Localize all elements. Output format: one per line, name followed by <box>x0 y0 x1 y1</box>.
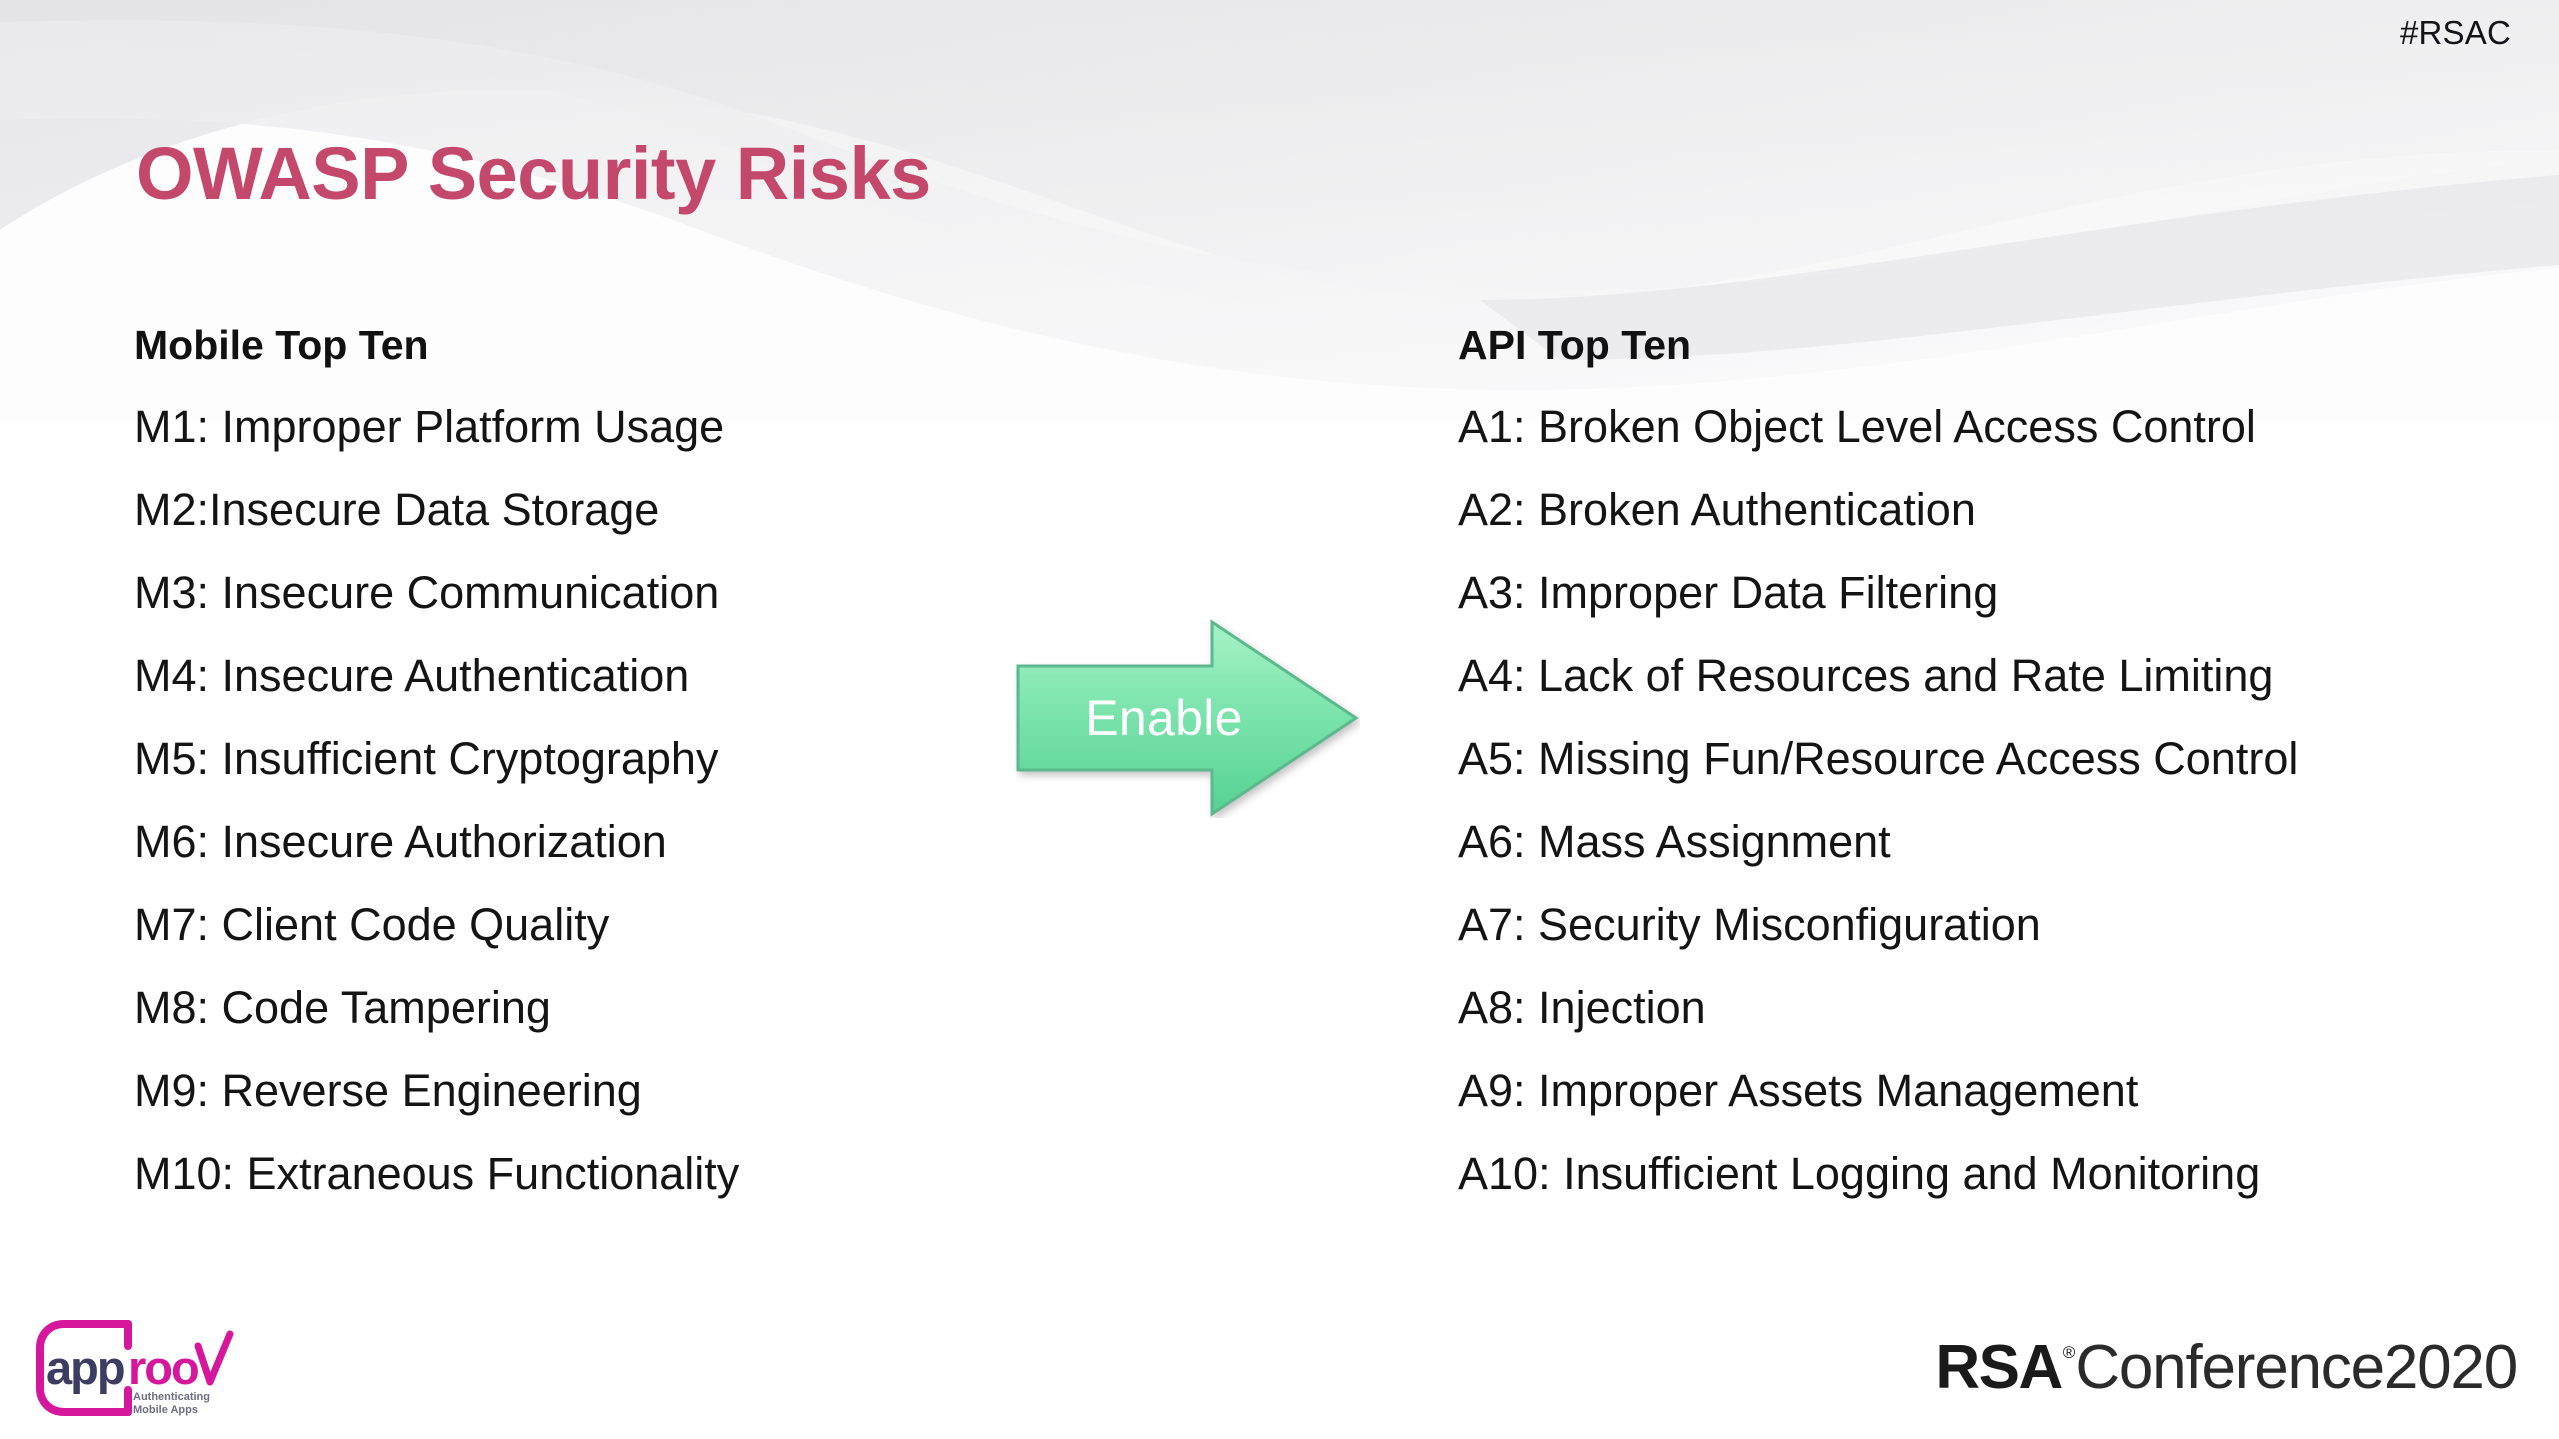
list-item: A3: Improper Data Filtering <box>1458 570 2518 615</box>
page-title: OWASP Security Risks <box>136 135 931 213</box>
svg-text:Mobile Apps: Mobile Apps <box>133 1404 198 1416</box>
list-item: M9: Reverse Engineering <box>134 1068 1014 1113</box>
list-item: M8: Code Tampering <box>134 985 1014 1030</box>
api-risk-list: A1: Broken Object Level Access Control A… <box>1458 404 2518 1196</box>
list-item: A7: Security Misconfiguration <box>1458 902 2518 947</box>
list-item: A5: Missing Fun/Resource Access Control <box>1458 736 2518 781</box>
registered-trademark-icon: ® <box>2063 1343 2076 1363</box>
api-top-ten-column: API Top Ten A1: Broken Object Level Acce… <box>1458 325 2518 1196</box>
mobile-top-ten-heading: Mobile Top Ten <box>134 325 1014 366</box>
list-item: A6: Mass Assignment <box>1458 819 2518 864</box>
list-item: M10: Extraneous Functionality <box>134 1151 1014 1196</box>
right-arrow-icon <box>1014 618 1360 818</box>
list-item: A1: Broken Object Level Access Control <box>1458 404 2518 449</box>
conference-year-wordmark: Conference2020 <box>2075 1332 2517 1403</box>
list-item: A9: Improper Assets Management <box>1458 1068 2518 1113</box>
list-item: M5: Insufficient Cryptography <box>134 736 1014 781</box>
list-item: M4: Insecure Authentication <box>134 653 1014 698</box>
list-item: M6: Insecure Authorization <box>134 819 1014 864</box>
list-item: A8: Injection <box>1458 985 2518 1030</box>
mobile-top-ten-column: Mobile Top Ten M1: Improper Platform Usa… <box>134 325 1014 1196</box>
list-item: A10: Insufficient Logging and Monitoring <box>1458 1151 2518 1196</box>
list-item: M7: Client Code Quality <box>134 902 1014 947</box>
list-item: A4: Lack of Resources and Rate Limiting <box>1458 653 2518 698</box>
svg-text:app: app <box>46 1341 124 1394</box>
api-top-ten-heading: API Top Ten <box>1458 325 2518 366</box>
approov-logo: app roo Authenticating Mobile Apps <box>30 1316 235 1421</box>
list-item: M3: Insecure Communication <box>134 570 1014 615</box>
list-item: M1: Improper Platform Usage <box>134 404 1014 449</box>
rsac-hashtag: #RSAC <box>2400 14 2511 52</box>
list-item: A2: Broken Authentication <box>1458 487 2518 532</box>
svg-text:Authenticating: Authenticating <box>133 1391 210 1403</box>
svg-text:roo: roo <box>128 1341 198 1394</box>
rsa-conference-logo: RSA ® Conference2020 <box>1935 1332 2517 1403</box>
slide-canvas: #RSAC OWASP Security Risks Mobile Top Te… <box>0 0 2559 1439</box>
rsa-wordmark: RSA <box>1935 1332 2061 1403</box>
list-item: M2:Insecure Data Storage <box>134 487 1014 532</box>
mobile-risk-list: M1: Improper Platform Usage M2:Insecure … <box>134 404 1014 1196</box>
